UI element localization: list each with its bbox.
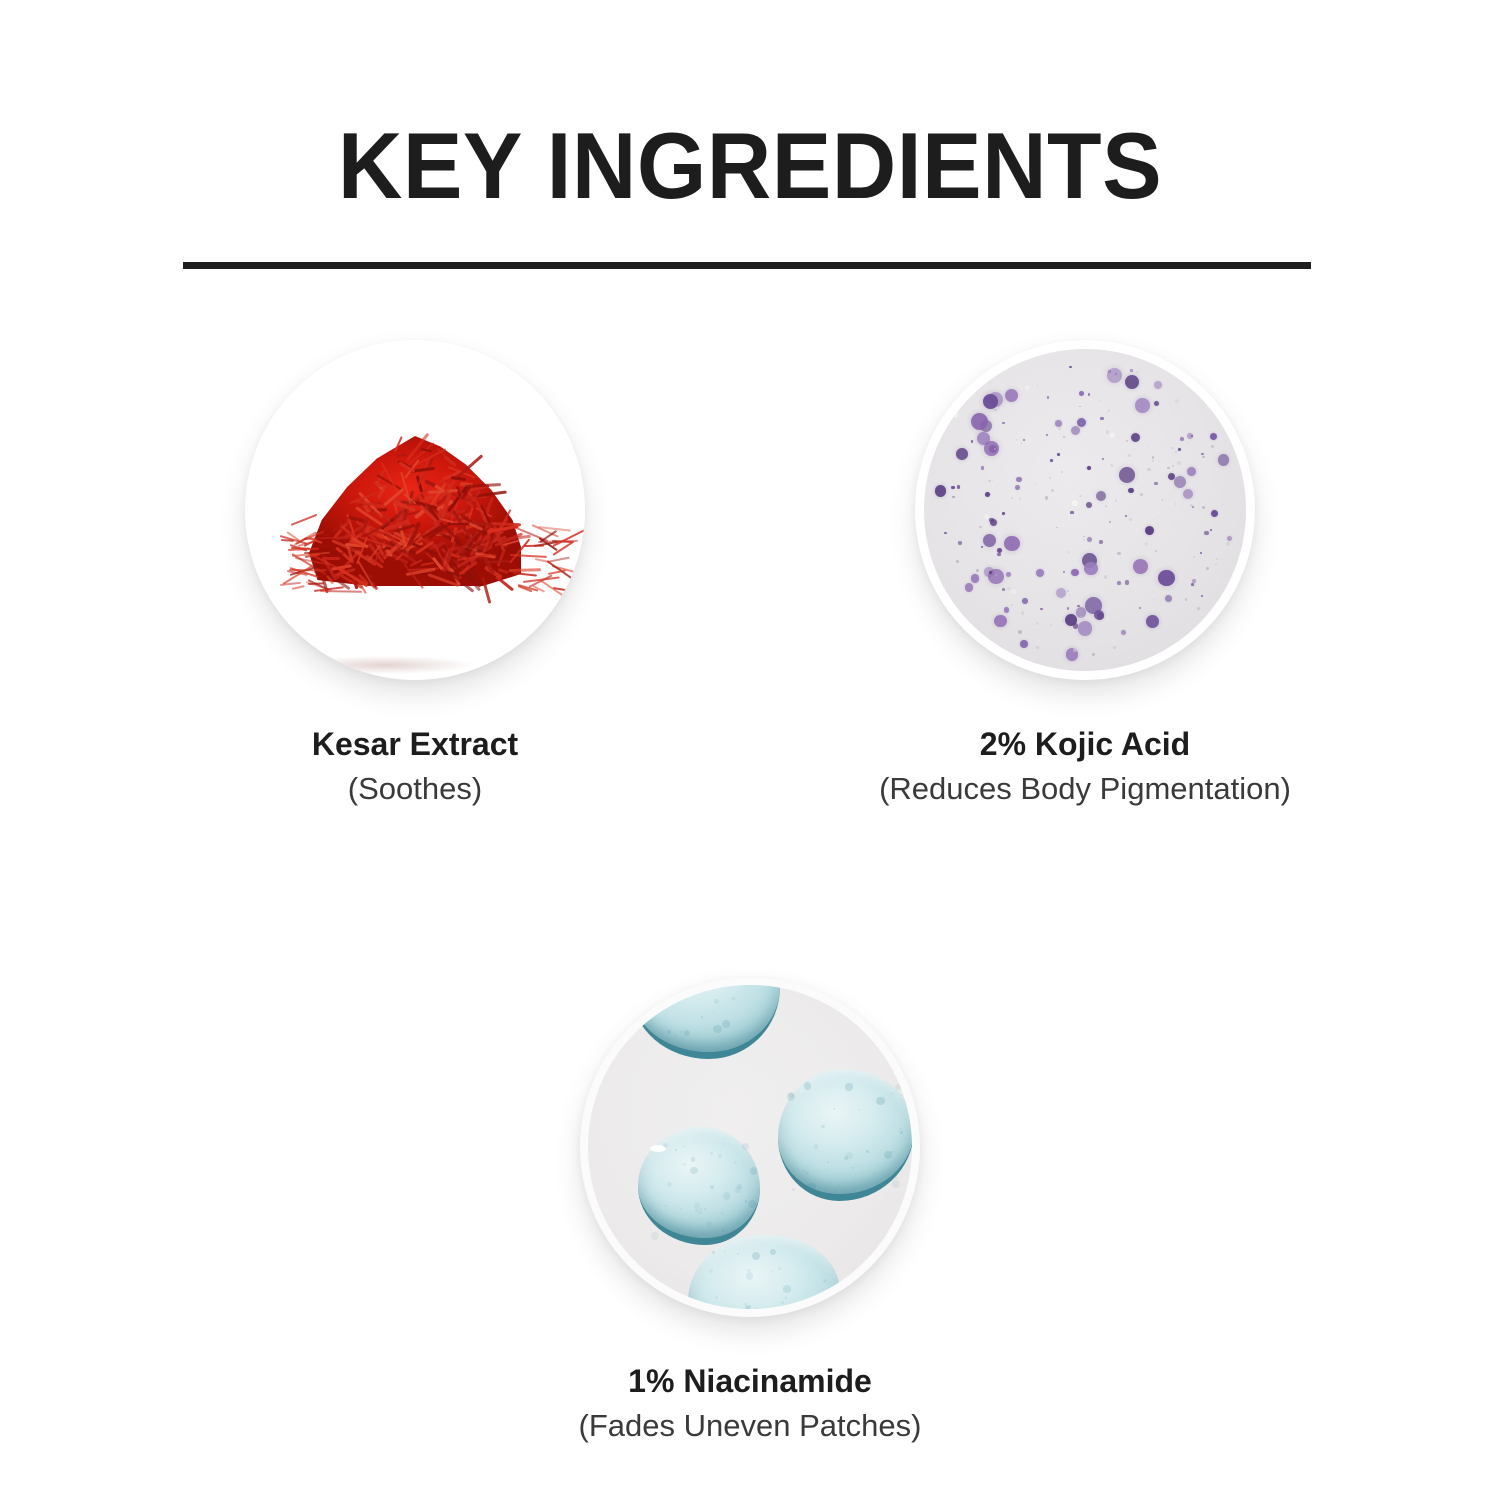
title-divider-rule xyxy=(183,262,1311,269)
saffron-threads-swatch xyxy=(245,340,585,680)
caption: Kesar Extract (Soothes) xyxy=(135,724,695,809)
kojic-white-ring xyxy=(915,340,1255,680)
swatch-wrapper xyxy=(245,340,585,680)
key-ingredients-infographic: KEY INGREDIENTS xyxy=(0,0,1500,1500)
ingredients-row-bottom: 1% Niacinamide (Fades Uneven Patches) xyxy=(0,977,1500,1446)
saffron-pile-icon xyxy=(283,428,549,596)
caption: 2% Kojic Acid (Reduces Body Pigmentation… xyxy=(805,724,1365,809)
ingredient-benefit: (Fades Uneven Patches) xyxy=(470,1407,1030,1446)
page-title: KEY INGREDIENTS xyxy=(38,118,1463,214)
ingredients-row-top: Kesar Extract (Soothes) xyxy=(0,340,1500,809)
kojic-powder-swatch xyxy=(915,340,1255,680)
ingredient-name: 2% Kojic Acid xyxy=(805,724,1365,764)
ingredient-benefit: (Reduces Body Pigmentation) xyxy=(805,770,1365,809)
ingredient-name: 1% Niacinamide xyxy=(470,1361,1030,1401)
swatch-wrapper xyxy=(915,340,1255,680)
swatch-wrapper xyxy=(580,977,920,1317)
header: KEY INGREDIENTS xyxy=(0,0,1500,214)
ingredient-card-niacinamide: 1% Niacinamide (Fades Uneven Patches) xyxy=(540,977,960,1446)
saffron-contact-shadow xyxy=(297,656,473,674)
ingredient-benefit: (Soothes) xyxy=(135,770,695,809)
ingredient-card-kojic-acid: 2% Kojic Acid (Reduces Body Pigmentation… xyxy=(875,340,1295,809)
ingredient-name: Kesar Extract xyxy=(135,724,695,764)
gel-white-ring xyxy=(580,977,920,1317)
caption: 1% Niacinamide (Fades Uneven Patches) xyxy=(470,1361,1030,1446)
ingredient-card-kesar-extract: Kesar Extract (Soothes) xyxy=(205,340,625,809)
niacinamide-gel-swatch xyxy=(580,977,920,1317)
ingredients-grid: Kesar Extract (Soothes) xyxy=(0,340,1500,1446)
